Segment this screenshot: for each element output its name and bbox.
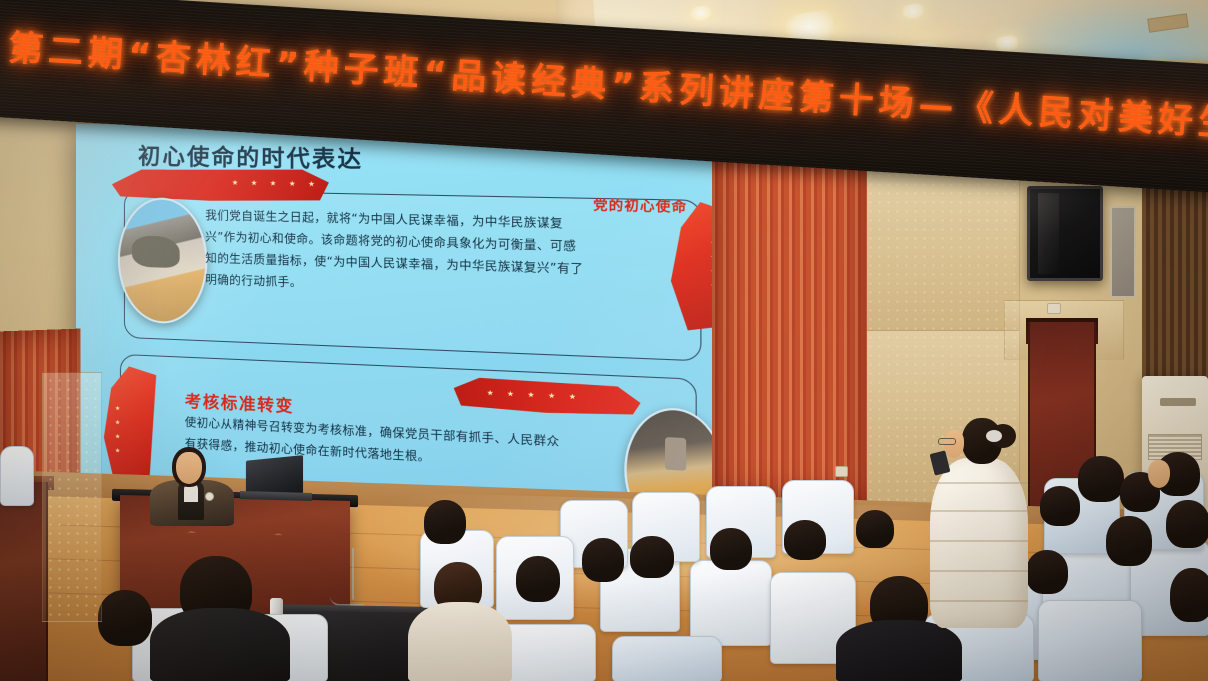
- glasses-icon: [938, 438, 956, 445]
- audience-member-shoulders: [408, 602, 512, 681]
- block-1-label: 党的初心使命: [593, 194, 687, 216]
- block-1-paragraph: 我们党自诞生之日起，就将“为中国人民谋幸福，为中华民族谋复兴”作为初心和使命。该…: [205, 205, 587, 303]
- audience-member: [710, 528, 752, 570]
- presenter-badge: [205, 492, 214, 501]
- audience-member: [784, 520, 826, 560]
- presenter-face: [176, 452, 202, 484]
- standing-attendee-jacket: [930, 458, 1028, 628]
- stage-curtain-right: [712, 138, 867, 502]
- jacket-seam: [930, 600, 1028, 602]
- audience-member: [1026, 550, 1068, 594]
- wall-mounted-tv: [1027, 186, 1103, 281]
- wall-speaker-icon: [1110, 206, 1136, 298]
- audience-member: [1166, 500, 1208, 548]
- wall-socket-icon: [1047, 303, 1061, 314]
- cable: [352, 548, 354, 600]
- great-wall-image-1: [118, 197, 207, 325]
- hair-scrunchie: [986, 430, 1002, 442]
- audience-member-shoulders: [150, 608, 290, 681]
- audience-member: [1078, 456, 1124, 502]
- jacket-seam: [930, 482, 1028, 484]
- audience-member: [630, 536, 674, 578]
- audience-member: [98, 590, 152, 646]
- lecture-hall-photo: 初心使命的时代表达 ★ ★ ★ ★ ★ ★★★★ 党的初心使命 我们党自诞生之日…: [0, 0, 1208, 681]
- seat[interactable]: [612, 636, 722, 681]
- seat[interactable]: [690, 560, 772, 646]
- ac-outlet-slot: [1160, 398, 1196, 406]
- seat[interactable]: [0, 446, 34, 506]
- audience-member: [424, 500, 466, 544]
- jacket-seam: [930, 510, 1028, 512]
- flag-stars: ★★★★: [115, 402, 120, 459]
- jacket-seam: [930, 570, 1028, 572]
- audience-member: [1106, 516, 1152, 566]
- audience-member: [856, 510, 894, 548]
- audience-member: [516, 556, 560, 602]
- audience-face: [1148, 460, 1170, 488]
- audience-member: [582, 538, 624, 582]
- audience-member: [1040, 486, 1080, 526]
- slide-title: 初心使命的时代表达: [138, 139, 363, 175]
- jacket-seam: [930, 540, 1028, 542]
- ribbon-stars: ★ ★ ★ ★ ★: [232, 179, 320, 189]
- wall-texture: [46, 376, 98, 616]
- wall-socket-icon: [835, 466, 848, 477]
- lectern: [0, 482, 48, 681]
- seat[interactable]: [1038, 600, 1142, 681]
- ribbon-stars: ★ ★ ★ ★ ★: [487, 389, 582, 402]
- audience-member-shoulders: [836, 620, 962, 681]
- audience-member: [1170, 568, 1208, 622]
